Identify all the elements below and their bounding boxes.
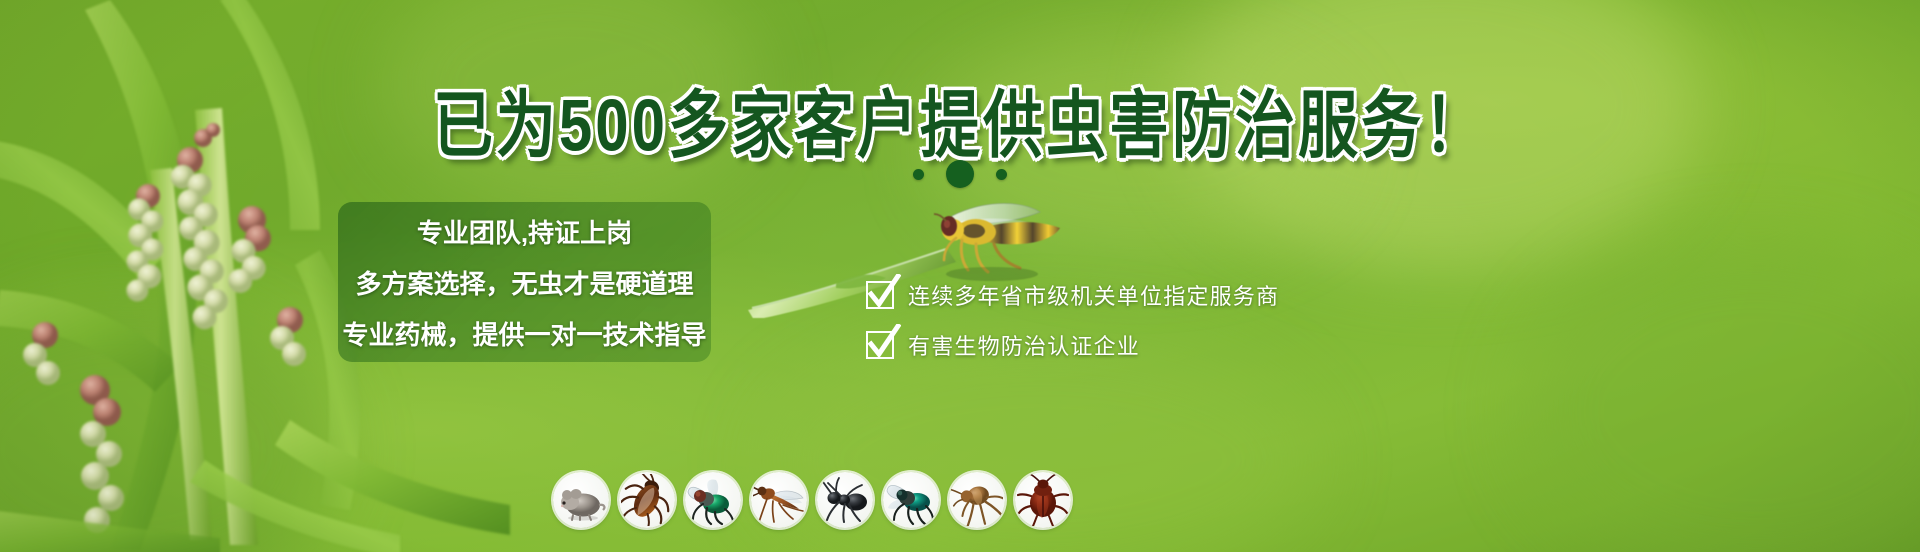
promo-banner: 已为500多家客户提供虫害防治服务！ 专业团队,持证上岗 多方案选择，无虫才是硬… [0, 0, 1920, 552]
mosquito-icon[interactable] [751, 472, 807, 528]
feature-line-1: 专业团队,持证上岗 [417, 213, 632, 250]
credential-list: 连续多年省市级机关单位指定服务商 有害生物防治认证企业 [866, 272, 1279, 372]
dot-large-center [946, 160, 974, 188]
feature-line-3: 专业药械，提供一对一技术指导 [342, 315, 706, 352]
credential-label: 连续多年省市级机关单位指定服务商 [908, 279, 1279, 311]
dot-separator-group [0, 160, 1920, 188]
checkbox-checked-icon [866, 281, 894, 309]
checkbox-checked-icon [866, 331, 894, 359]
dot-small-right [996, 169, 1007, 180]
ant-icon[interactable] [817, 472, 873, 528]
credential-label: 有害生物防治认证企业 [908, 329, 1140, 361]
housefly-icon[interactable] [685, 472, 741, 528]
feature-line-2: 多方案选择，无虫才是硬道理 [355, 264, 693, 301]
cockroach-icon[interactable] [619, 472, 675, 528]
list-item: 有害生物防治认证企业 [866, 322, 1279, 368]
dot-small-left [913, 169, 924, 180]
list-item: 连续多年省市级机关单位指定服务商 [866, 272, 1279, 318]
blowfly-icon[interactable] [883, 472, 939, 528]
rodent-icon[interactable] [553, 472, 609, 528]
page-title: 已为500多家客户提供虫害防治服务！ [0, 66, 1920, 172]
flea-icon[interactable] [949, 472, 1005, 528]
bedbug-icon[interactable] [1015, 472, 1071, 528]
pest-icon-row [553, 472, 1071, 528]
feature-panel-text: 专业团队,持证上岗 多方案选择，无虫才是硬道理 专业药械，提供一对一技术指导 [338, 202, 711, 362]
